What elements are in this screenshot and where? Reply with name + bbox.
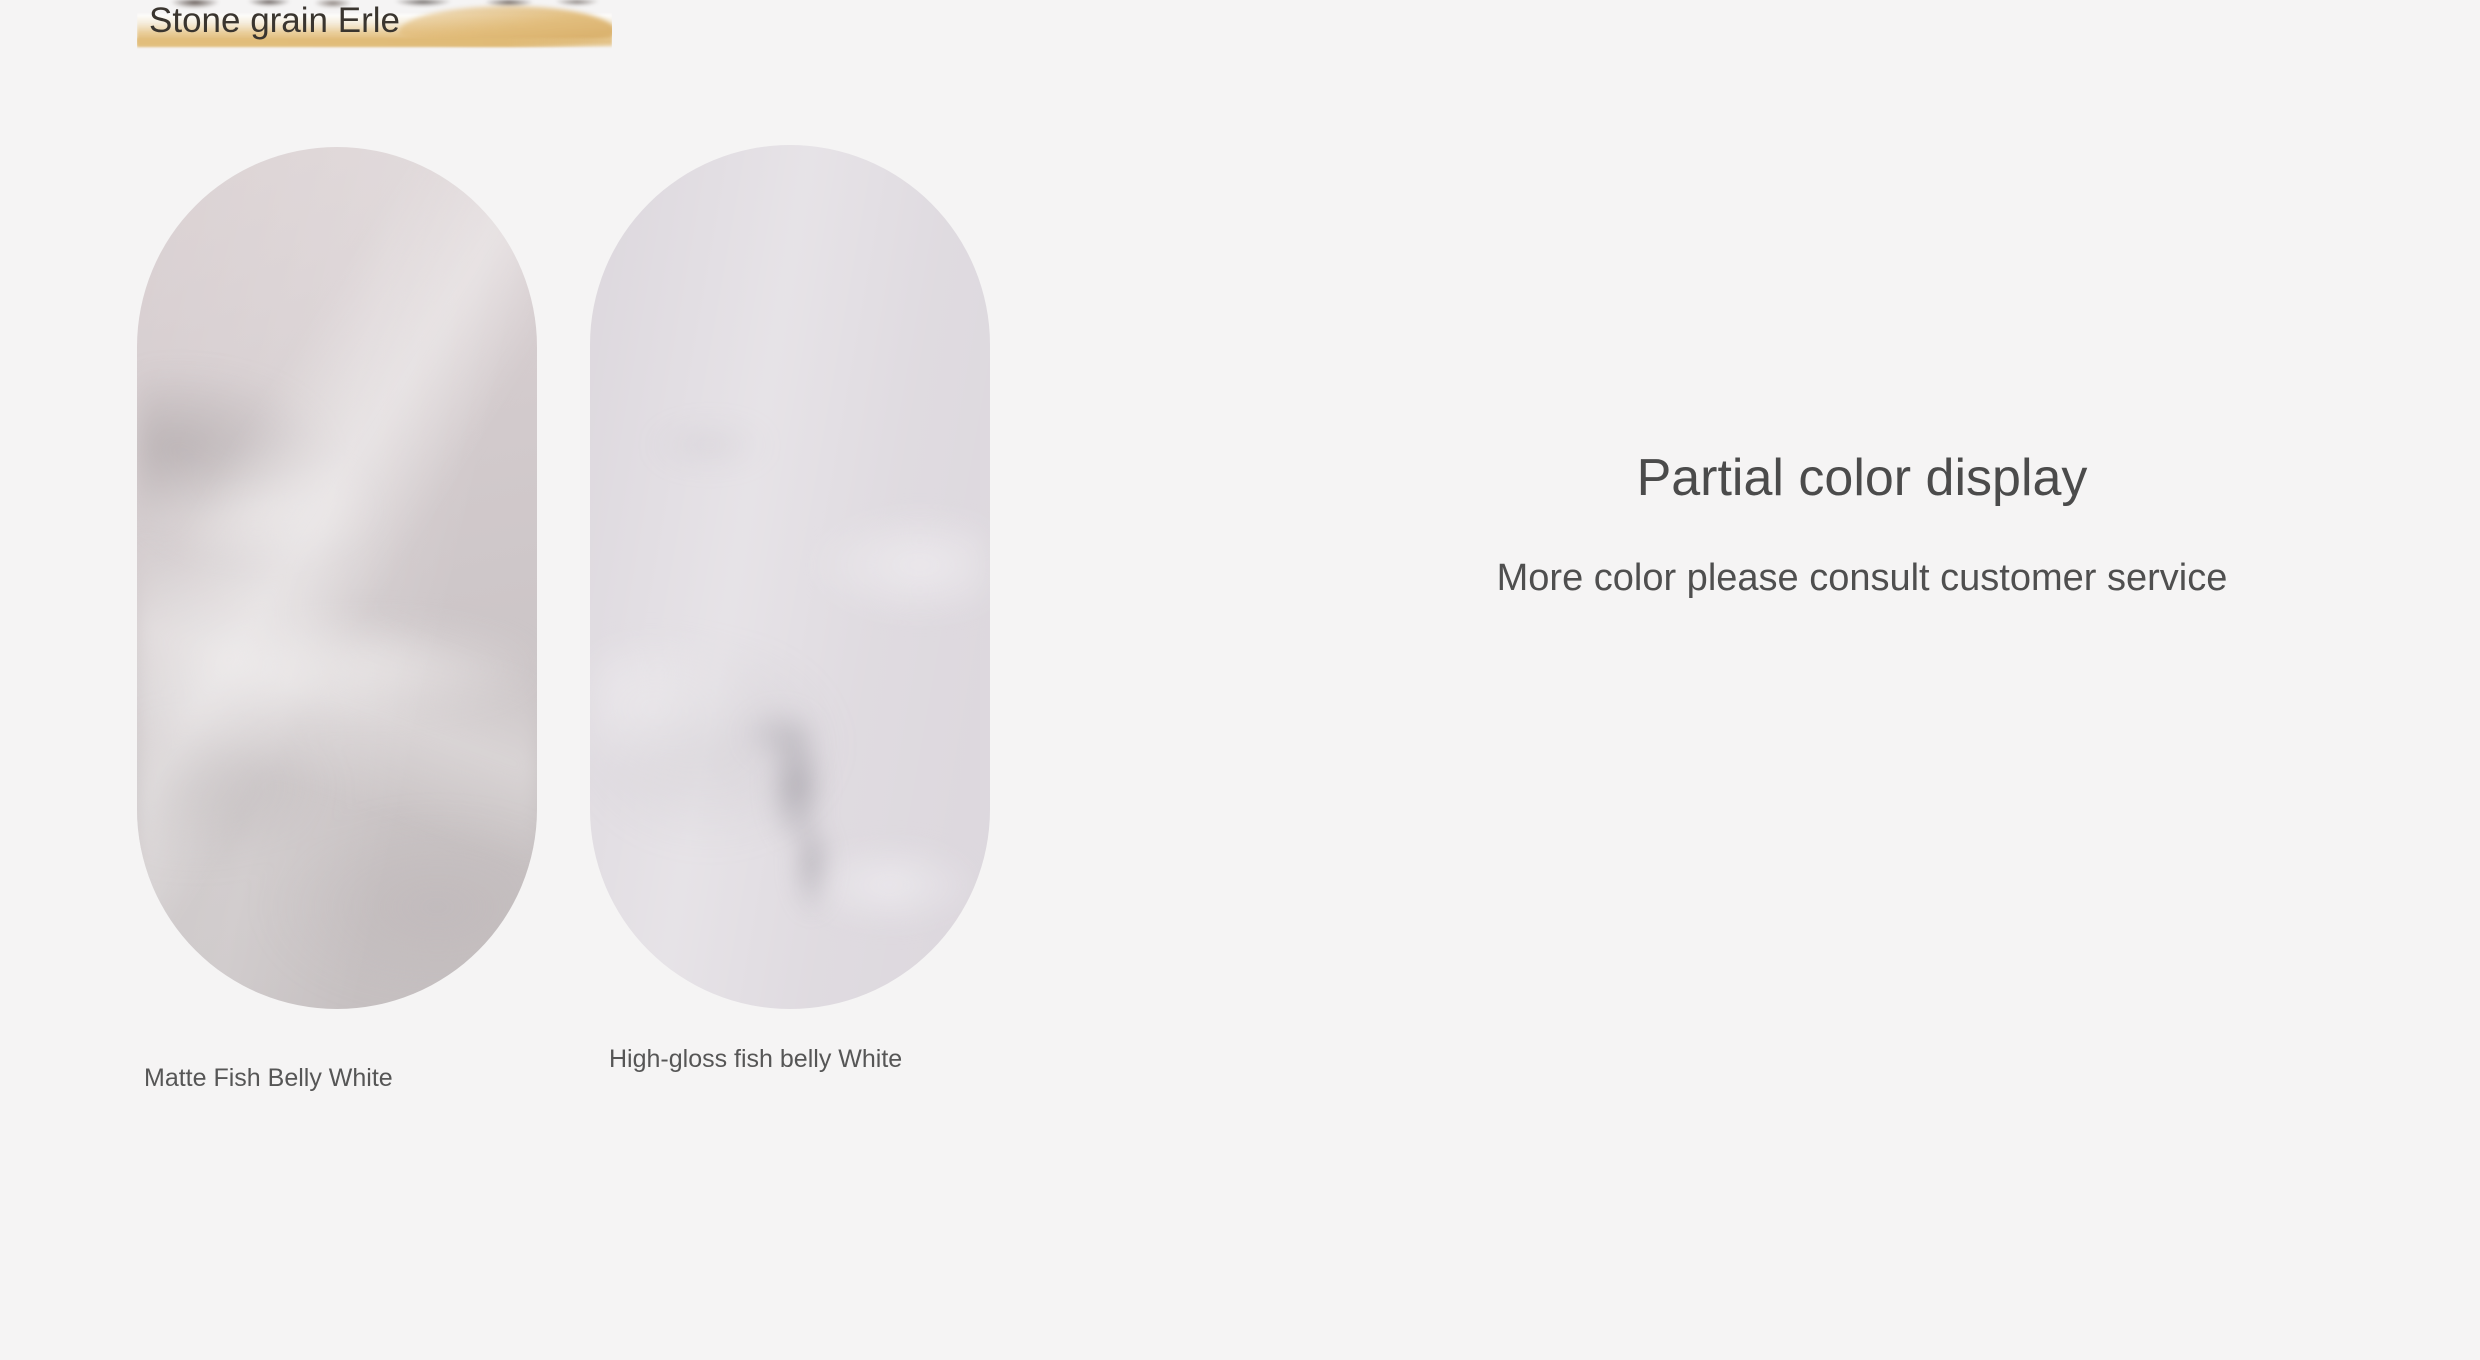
- headline-block: Partial color display More color please …: [1282, 440, 2442, 604]
- swatch-gloss-sheen-overlay: [590, 145, 990, 1009]
- partial-color-display-heading: Partial color display: [1282, 440, 2442, 516]
- swatch-sheen-overlay: [137, 147, 537, 1009]
- swatch-matte-fish-belly-white[interactable]: [137, 147, 537, 1009]
- swatch-label-matte-fish-belly-white: Matte Fish Belly White: [144, 1057, 524, 1100]
- product-color-display-page: Stone grain Erle Matte Fish Belly White …: [0, 0, 2480, 1360]
- swatch-label-high-gloss-fish-belly-white: High-gloss fish belly White: [609, 1038, 969, 1081]
- swatch-high-gloss-fish-belly-white[interactable]: [590, 145, 990, 1009]
- consult-customer-service-subheading: More color please consult customer servi…: [1282, 552, 2442, 604]
- stone-grain-title: Stone grain Erle: [149, 0, 400, 42]
